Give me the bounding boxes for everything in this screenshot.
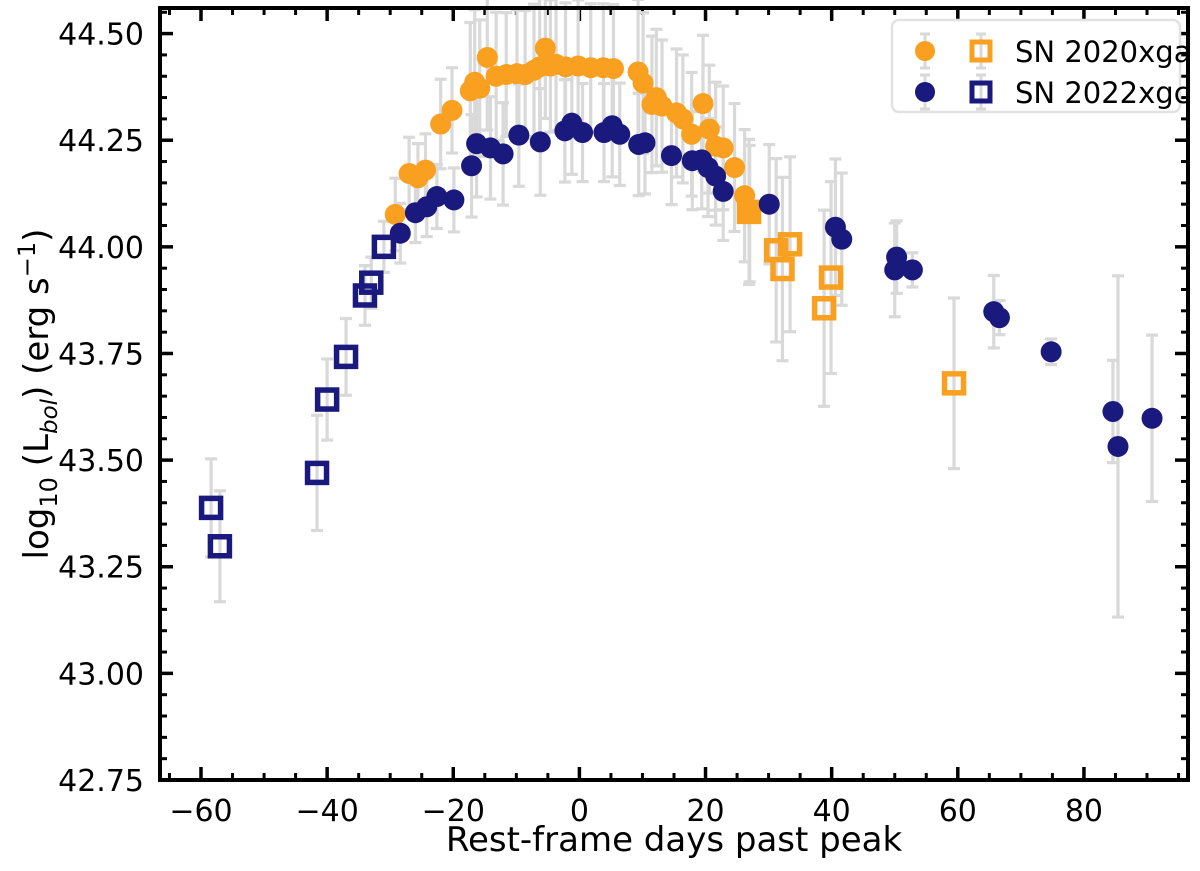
data-point-circle [415,160,436,181]
data-point-circle [634,132,655,153]
data-point-circle [693,93,714,114]
data-point-circle [508,125,529,146]
y-tick-label: 42.75 [58,764,144,799]
y-tick-label: 44.00 [58,231,144,266]
data-point-circle [493,143,514,164]
y-axis-label: log10 (Lbol) (erg s−1) [13,229,63,560]
data-point-circle [713,137,734,158]
data-point-circle [477,47,498,68]
data-point-circle [385,204,406,225]
legend-marker-circle [915,82,935,102]
x-tick-label: 60 [939,794,977,829]
data-point-circle [713,181,734,202]
data-point-circle [1142,408,1163,429]
data-point-circle [461,155,482,176]
data-point-circle [530,131,551,152]
y-tick-label: 43.00 [58,657,144,692]
data-point-circle [661,145,682,166]
legend-entry-label: SN 2020xga [1015,35,1191,69]
y-tick-label: 44.25 [58,124,144,159]
data-point-circle [759,194,780,215]
x-axis-label: Rest-frame days past peak [446,820,903,860]
legend-marker-circle [915,41,935,61]
data-point-circle [609,124,630,145]
x-tick-label: 80 [1065,794,1103,829]
legend-entry-label: SN 2022xgc [1015,76,1190,110]
y-axis-tick-labels: 42.7543.0043.2543.5043.7544.0044.2544.50 [58,18,144,799]
x-tick-label: −60 [169,794,232,829]
data-point-circle [443,189,464,210]
data-point-circle [572,122,593,143]
x-tick-label: −40 [295,794,358,829]
data-point-circle [1102,401,1123,422]
y-tick-label: 44.50 [58,18,144,53]
data-point-circle [603,58,624,79]
legend[interactable]: SN 2020xgaSN 2022xgc [892,20,1191,112]
data-point-circle [724,157,745,178]
y-tick-label: 43.25 [58,551,144,586]
data-point-circle [831,229,852,250]
data-point-circle [989,307,1010,328]
y-tick-label: 43.75 [58,337,144,372]
plot-canvas: −60−40−20020406080 42.7543.0043.2543.504… [0,0,1200,871]
data-point-circle [1041,341,1062,362]
data-point-circle [442,100,463,121]
y-axis-label-text: log10 (Lbol) (erg s−1) [13,229,63,560]
bolometric-lightcurve-figure: −60−40−20020406080 42.7543.0043.2543.504… [0,0,1200,871]
data-point-circle [1107,436,1128,457]
data-point-circle [902,259,923,280]
data-point-circle [681,124,702,145]
y-tick-label: 43.50 [58,444,144,479]
